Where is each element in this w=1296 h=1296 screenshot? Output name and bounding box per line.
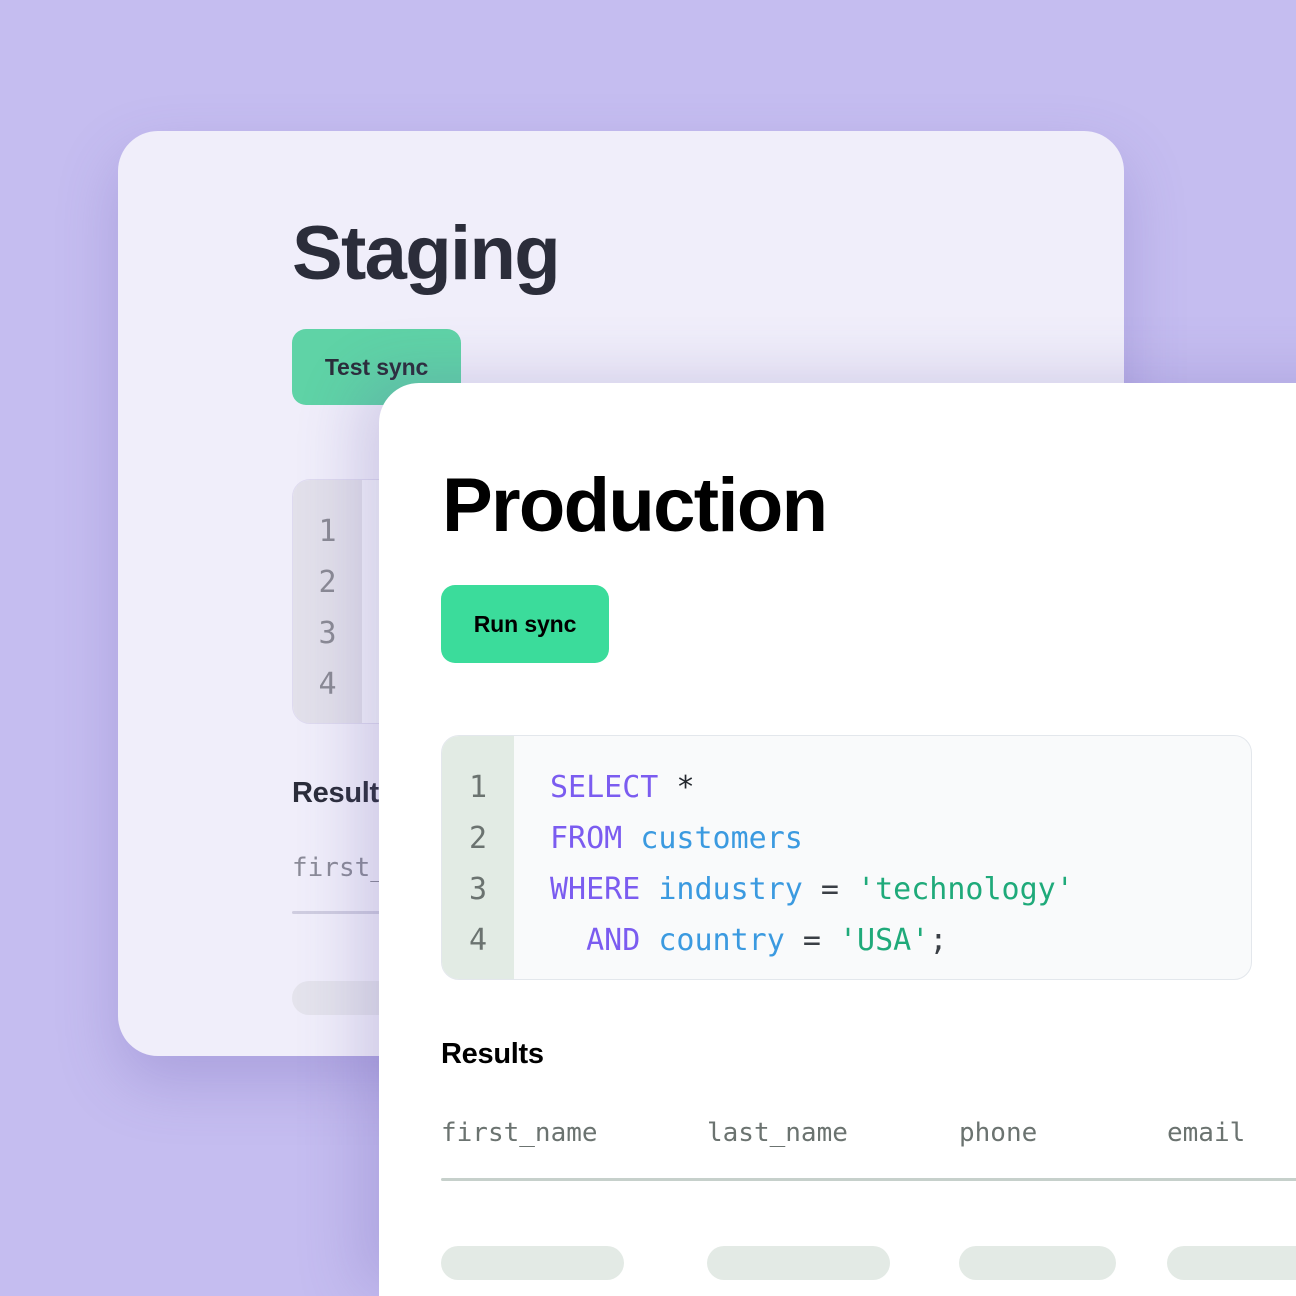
staging-code-gutter: 1234 <box>293 480 362 723</box>
production-sql-code-block[interactable]: 1234 SELECT *FROM customersWHERE industr… <box>441 735 1252 980</box>
code-line: SELECT * <box>550 762 1251 813</box>
results-skeleton-cell <box>441 1246 624 1280</box>
production-results-table: first_namelast_namephoneemail <box>441 1116 1296 1168</box>
results-column-header-phone: phone <box>959 1116 1037 1150</box>
results-skeleton-cell <box>1167 1246 1296 1280</box>
production-results-header-row: first_namelast_namephoneemail <box>441 1116 1296 1168</box>
results-column-header-first-name: first_name <box>441 1116 598 1150</box>
sql-token-id: industry <box>658 872 803 907</box>
production-card: Production Run sync 1234 SELECT *FROM cu… <box>379 383 1296 1296</box>
code-line-number: 1 <box>318 506 336 557</box>
code-line-number: 1 <box>469 762 487 813</box>
results-column-header-last-name: last_name <box>707 1116 848 1150</box>
sql-token-kw: SELECT <box>550 770 658 805</box>
production-results-heading: Results <box>441 1038 544 1071</box>
results-skeleton-cell <box>707 1246 890 1280</box>
sql-token-str: 'USA' <box>839 923 929 958</box>
code-line: WHERE industry = 'technology' <box>550 864 1251 915</box>
staging-page-title: Staging <box>292 216 559 292</box>
production-page-title: Production <box>442 468 826 544</box>
sql-token-str: 'technology' <box>857 872 1074 907</box>
sql-token-op: = <box>785 923 839 958</box>
production-results-divider <box>441 1178 1296 1181</box>
canvas: Staging Test sync 1234 SELECT *FROM cust… <box>0 0 1296 1296</box>
production-code-content[interactable]: SELECT *FROM customersWHERE industry = '… <box>514 736 1251 979</box>
sql-token-op: ; <box>929 923 947 958</box>
sql-token-star: * <box>676 770 694 805</box>
sql-token-op <box>640 923 658 958</box>
sql-token-op <box>640 872 658 907</box>
sql-token-op <box>658 770 676 805</box>
sql-token-op <box>550 923 586 958</box>
sql-token-id: customers <box>640 821 803 856</box>
code-line-number: 4 <box>318 659 336 710</box>
run-sync-button[interactable]: Run sync <box>441 585 609 663</box>
results-skeleton-cell <box>959 1246 1116 1280</box>
production-code-gutter: 1234 <box>442 736 514 979</box>
sql-token-op: = <box>803 872 857 907</box>
sql-token-kw: FROM <box>550 821 622 856</box>
results-column-header-email: email <box>1167 1116 1245 1150</box>
code-line-number: 3 <box>318 608 336 659</box>
sql-token-kw: AND <box>586 923 640 958</box>
code-line-number: 3 <box>469 864 487 915</box>
code-line-number: 4 <box>469 915 487 966</box>
code-line-number: 2 <box>318 557 336 608</box>
code-line-number: 2 <box>469 813 487 864</box>
code-line: AND country = 'USA'; <box>550 915 1251 966</box>
sql-token-kw: WHERE <box>550 872 640 907</box>
code-line: FROM customers <box>550 813 1251 864</box>
sql-token-op <box>622 821 640 856</box>
sql-token-id: country <box>658 923 784 958</box>
